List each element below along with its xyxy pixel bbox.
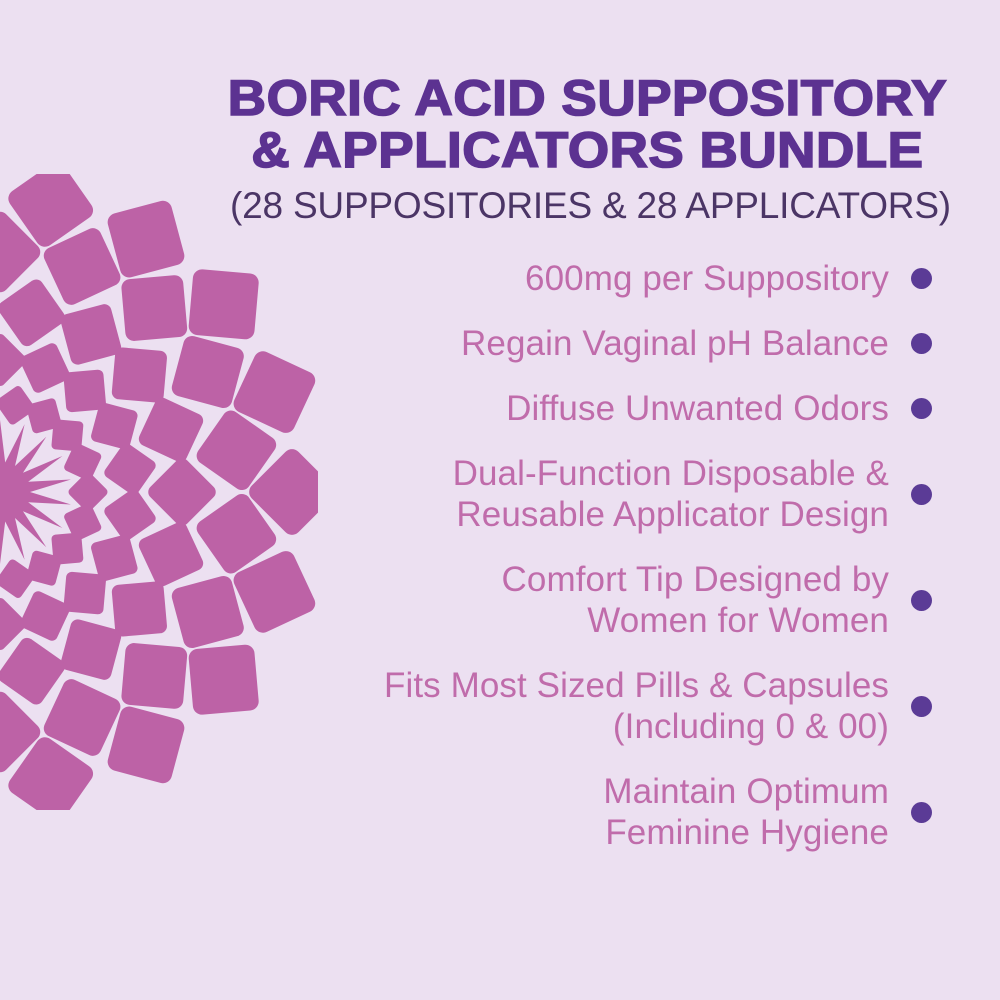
mandala-ring-3 <box>0 208 280 776</box>
feature-label: Dual-Function Disposable & Reusable Appl… <box>300 453 911 535</box>
mandala-petal <box>59 618 123 682</box>
mandala-petal <box>19 589 72 642</box>
bullet-dot-icon <box>911 802 932 823</box>
mandala-petal <box>63 502 103 542</box>
mandala-ring-2 <box>0 277 219 708</box>
product-title-line-2: & APPLICATORS BUNDLE <box>209 124 967 176</box>
mandala-petal <box>5 174 97 250</box>
mandala-ring-0 <box>0 384 109 599</box>
mandala-petal <box>63 571 106 614</box>
bullet-dot-icon <box>911 398 932 419</box>
mandala-ring-4 <box>0 174 318 810</box>
mandala-petal <box>188 644 260 716</box>
bullet-dot-icon <box>911 333 932 354</box>
mandala-petal <box>0 384 6 426</box>
mandala-petal <box>0 384 36 426</box>
mandala-petal <box>51 419 84 452</box>
mandala-petal <box>41 225 123 307</box>
mandala-petal <box>0 558 6 600</box>
bullet-dot-icon <box>911 696 932 717</box>
feature-list-item: Regain Vaginal pH Balance <box>300 323 932 364</box>
mandala-petal <box>121 642 188 709</box>
feature-list-item: 600mg per Suppository <box>300 258 932 299</box>
feature-label: Fits Most Sized Pills & Capsules (Includ… <box>300 665 911 747</box>
product-title-line-1: BORIC ACID SUPPOSITORY <box>209 72 967 124</box>
mandala-petal <box>90 402 139 451</box>
mandala-petal <box>0 208 44 296</box>
mandala-petal <box>136 395 205 464</box>
mandala-ring-1 <box>0 332 158 653</box>
mandala-petal <box>19 341 72 394</box>
mandala-petal <box>0 277 5 349</box>
mandala-petal <box>102 487 158 543</box>
feature-list-item: Dual-Function Disposable & Reusable Appl… <box>300 453 932 535</box>
mandala-petal <box>67 471 109 513</box>
mandala-petal <box>102 441 158 497</box>
mandala-petal <box>170 574 246 650</box>
mandala-petal <box>26 397 63 434</box>
mandala-petal <box>106 704 187 785</box>
mandala-petal <box>41 676 123 758</box>
mandala-petal <box>90 534 139 583</box>
mandala-core-starburst <box>0 420 71 564</box>
mandala-petal <box>188 269 260 341</box>
headline-block: BORIC ACID SUPPOSITORY & APPLICATORS BUN… <box>230 72 945 229</box>
mandala-petal <box>0 596 28 653</box>
mandala-petal <box>0 635 5 707</box>
mandala-petal <box>63 442 103 482</box>
feature-label: Diffuse Unwanted Odors <box>300 388 911 429</box>
feature-list-item: Maintain Optimum Feminine Hygiene <box>300 771 932 853</box>
mandala-flower-icon <box>0 174 318 810</box>
bullet-dot-icon <box>911 268 932 289</box>
product-subtitle: (28 SUPPOSITORIES & 28 APPLICATORS) <box>230 183 945 229</box>
feature-label: 600mg per Suppository <box>300 258 911 299</box>
mandala-petal <box>170 334 246 410</box>
feature-list-item: Fits Most Sized Pills & Capsules (Includ… <box>300 665 932 747</box>
mandala-petal <box>121 275 188 342</box>
mandala-petal <box>26 550 63 587</box>
product-feature-card: BORIC ACID SUPPOSITORY & APPLICATORS BUN… <box>0 0 1000 1000</box>
mandala-petal <box>193 491 279 577</box>
feature-list: 600mg per SuppositoryRegain Vaginal pH B… <box>300 258 932 877</box>
mandala-petal <box>106 199 187 280</box>
mandala-petal <box>59 303 123 367</box>
mandala-petal <box>145 455 219 529</box>
mandala-petal <box>136 520 205 589</box>
mandala-petal <box>0 635 68 707</box>
feature-list-item: Comfort Tip Designed by Women for Women <box>300 559 932 641</box>
feature-list-item: Diffuse Unwanted Odors <box>300 388 932 429</box>
bullet-dot-icon <box>911 484 932 505</box>
bullet-dot-icon <box>911 590 932 611</box>
mandala-petal <box>0 558 36 600</box>
mandala-petal <box>193 407 279 493</box>
mandala-petal <box>0 332 28 389</box>
mandala-petal <box>0 277 68 349</box>
mandala-petal <box>111 581 167 637</box>
mandala-petal <box>63 369 106 412</box>
mandala-petal <box>111 347 167 403</box>
feature-label: Comfort Tip Designed by Women for Women <box>300 559 911 641</box>
feature-label: Maintain Optimum Feminine Hygiene <box>300 771 911 853</box>
mandala-petal <box>5 734 97 810</box>
mandala-petal <box>51 532 84 565</box>
feature-label: Regain Vaginal pH Balance <box>300 323 911 364</box>
mandala-petal <box>0 688 44 776</box>
